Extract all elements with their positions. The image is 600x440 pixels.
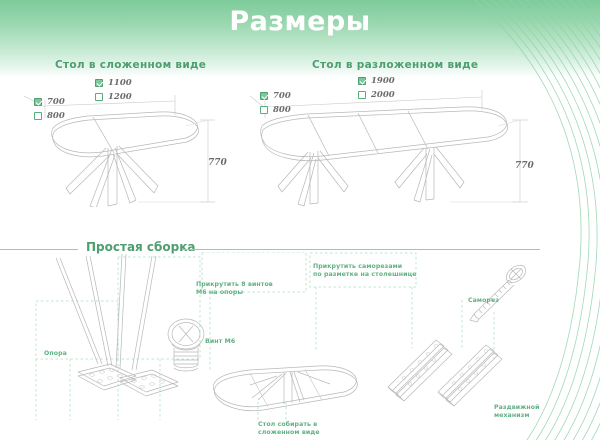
section-heading-open: Стол в разложенном виде — [312, 59, 478, 71]
option-label: 800 — [273, 105, 291, 115]
divider-right — [182, 249, 540, 250]
callout-slide-mechanism: Раздвижной механизм — [494, 404, 540, 421]
option-row[interactable]: 800 — [34, 110, 65, 122]
checkbox-checked-icon[interactable] — [95, 79, 103, 87]
option-label: 800 — [47, 111, 65, 121]
callout-fold-note: Стол собирать в сложенном виде — [258, 421, 320, 438]
folded-width-options[interactable]: 1100 1200 — [95, 77, 132, 105]
page-title: Размеры — [0, 6, 600, 37]
callout-leg: Опора — [44, 350, 67, 358]
option-row[interactable]: 1900 — [358, 75, 395, 87]
option-label: 1200 — [108, 92, 132, 102]
infographic-page: Размеры Стол в сложенном виде Стол в раз… — [0, 0, 600, 440]
option-row[interactable]: 800 — [260, 104, 291, 116]
option-label: 1900 — [371, 76, 395, 86]
section-heading-folded: Стол в сложенном виде — [55, 59, 206, 71]
open-height-dimension: 770 — [515, 161, 534, 171]
extended-table-drawing — [250, 76, 550, 208]
option-row[interactable]: 1100 — [95, 77, 132, 89]
option-label: 1100 — [108, 78, 132, 88]
checkbox-unchecked-icon[interactable] — [95, 93, 103, 101]
divider-left — [0, 249, 78, 250]
checkbox-checked-icon[interactable] — [260, 92, 268, 100]
open-width-options[interactable]: 1900 2000 — [358, 75, 395, 103]
callout-bolt-part: Винт М6 — [205, 338, 235, 346]
option-row[interactable]: 700 — [260, 90, 291, 102]
callout-screws: Прикрутить саморезами по разметке на сто… — [313, 263, 417, 280]
option-row[interactable]: 2000 — [358, 89, 395, 101]
bolt-icon — [168, 319, 204, 371]
checkbox-checked-icon[interactable] — [34, 98, 42, 106]
option-label: 2000 — [371, 90, 395, 100]
folded-depth-options[interactable]: 700 800 — [34, 96, 65, 124]
callout-bolts: Прикрутить 8 винтов М6 на опоры — [196, 281, 273, 298]
option-label: 700 — [47, 97, 65, 107]
option-label: 700 — [273, 91, 291, 101]
option-row[interactable]: 700 — [34, 96, 65, 108]
checkbox-unchecked-icon[interactable] — [34, 112, 42, 120]
open-depth-options[interactable]: 700 800 — [260, 90, 291, 118]
screw-icon — [470, 262, 529, 322]
callout-self-tapping-screw: Саморез — [468, 297, 499, 305]
option-row[interactable]: 1200 — [95, 91, 132, 103]
checkbox-unchecked-icon[interactable] — [358, 91, 366, 99]
folded-height-dimension: 770 — [208, 158, 227, 168]
checkbox-unchecked-icon[interactable] — [260, 106, 268, 114]
checkbox-checked-icon[interactable] — [358, 77, 366, 85]
